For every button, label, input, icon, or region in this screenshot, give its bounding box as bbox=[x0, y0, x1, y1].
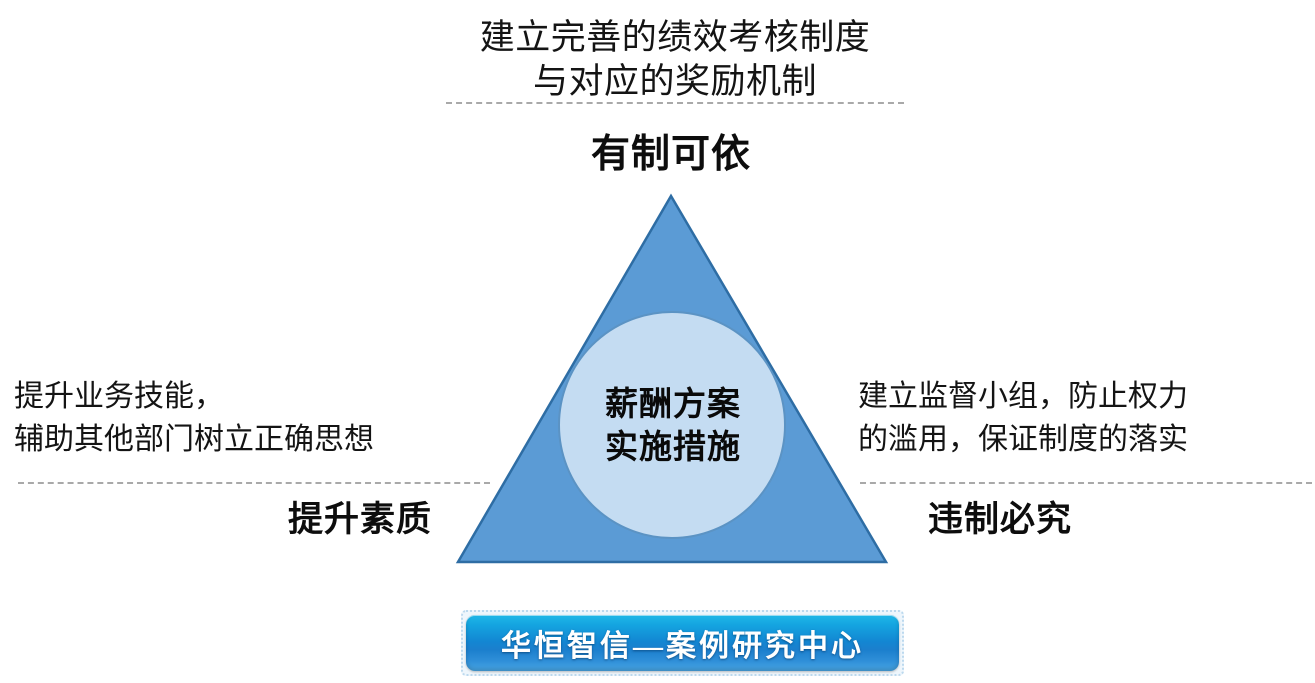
right-description: 建立监督小组，防止权力 的滥用，保证制度的落实 bbox=[858, 375, 1308, 461]
top-heading: 建立完善的绩效考核制度 与对应的奖励机制 bbox=[395, 16, 955, 104]
center-circle-label: 薪酬方案 实施措施 bbox=[562, 382, 784, 468]
footer-banner-plate: 华恒智信—案例研究中心 bbox=[466, 615, 899, 671]
apex-label: 有制可依 bbox=[471, 130, 871, 180]
left-description: 提升业务技能， 辅助其他部门树立正确思想 bbox=[14, 375, 494, 461]
footer-banner[interactable]: 华恒智信—案例研究中心 bbox=[461, 610, 904, 676]
dashed-divider-right bbox=[860, 482, 1312, 484]
dashed-divider-left bbox=[18, 482, 490, 484]
bottom-left-label: 提升素质 bbox=[250, 496, 470, 544]
bottom-right-label: 违制必究 bbox=[890, 496, 1110, 544]
dashed-divider-top bbox=[446, 102, 904, 104]
footer-banner-text: 华恒智信—案例研究中心 bbox=[501, 621, 864, 665]
triangle-diagram bbox=[440, 185, 910, 575]
slide-canvas: 建立完善的绩效考核制度 与对应的奖励机制 有制可依 薪酬方案 实施措施 提升业务… bbox=[0, 0, 1315, 683]
